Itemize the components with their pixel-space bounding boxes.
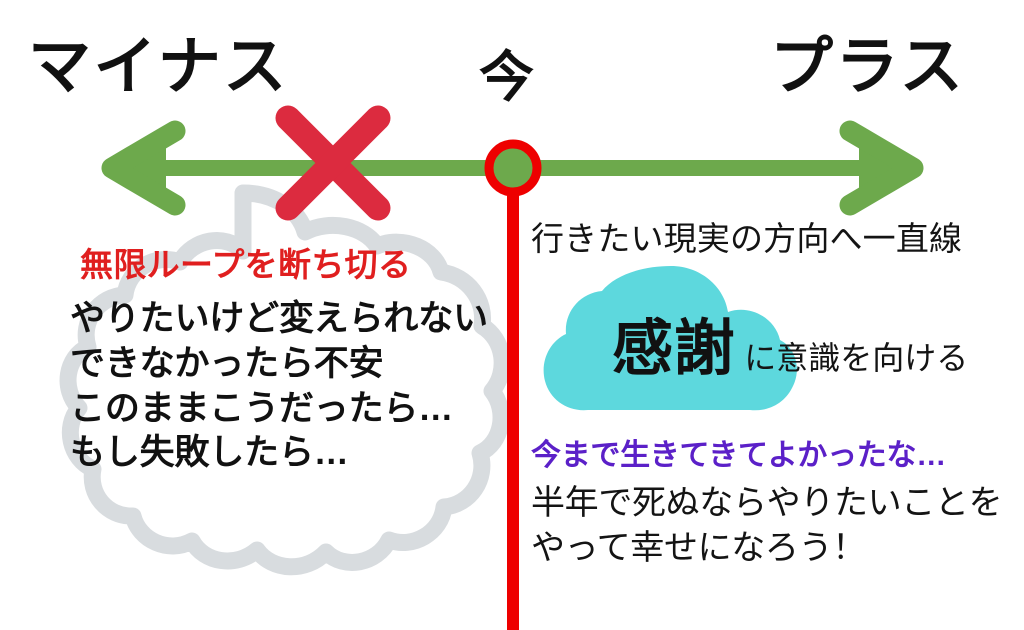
now-marker (489, 144, 537, 192)
negative-content: 無限ループを断ち切る やりたいけど変えられない できなかったら不安 このままこう… (70, 246, 520, 476)
list-item: やって幸せになろう！ (531, 526, 1002, 571)
list-item: もし失敗したら… (70, 431, 520, 476)
list-item: できなかったら不安 (70, 342, 520, 387)
gratitude-text-row: 感謝 に意識を向ける (612, 318, 968, 379)
axis-label-now: 今 (479, 50, 536, 105)
affirmation-text: 今まで生きてきてよかったな… (531, 430, 946, 474)
gratitude-suffix: に意識を向ける (744, 342, 968, 374)
axis-label-minus: マイナス (28, 36, 289, 99)
negative-thought-list: やりたいけど変えられない できなかったら不安 このままこうだったら… もし失敗し… (70, 297, 520, 476)
diagram-canvas: マイナス プラス 今 無限ループを断ち切る やりたいけど変えられない できなかっ… (0, 0, 1024, 630)
list-item: やりたいけど変えられない (70, 297, 520, 342)
gratitude-keyword: 感謝 (612, 318, 735, 379)
break-loop-title: 無限ループを断ち切る (80, 246, 520, 285)
positive-heading: 行きたい現実の方向へ一直線 (531, 212, 962, 260)
positive-statement-list: 半年で死ぬならやりたいことを やって幸せになろう！ (531, 481, 1002, 571)
list-item: 半年で死ぬならやりたいことを (531, 481, 1002, 526)
list-item: このままこうだったら… (70, 387, 520, 432)
axis-label-plus: プラス (770, 36, 965, 99)
